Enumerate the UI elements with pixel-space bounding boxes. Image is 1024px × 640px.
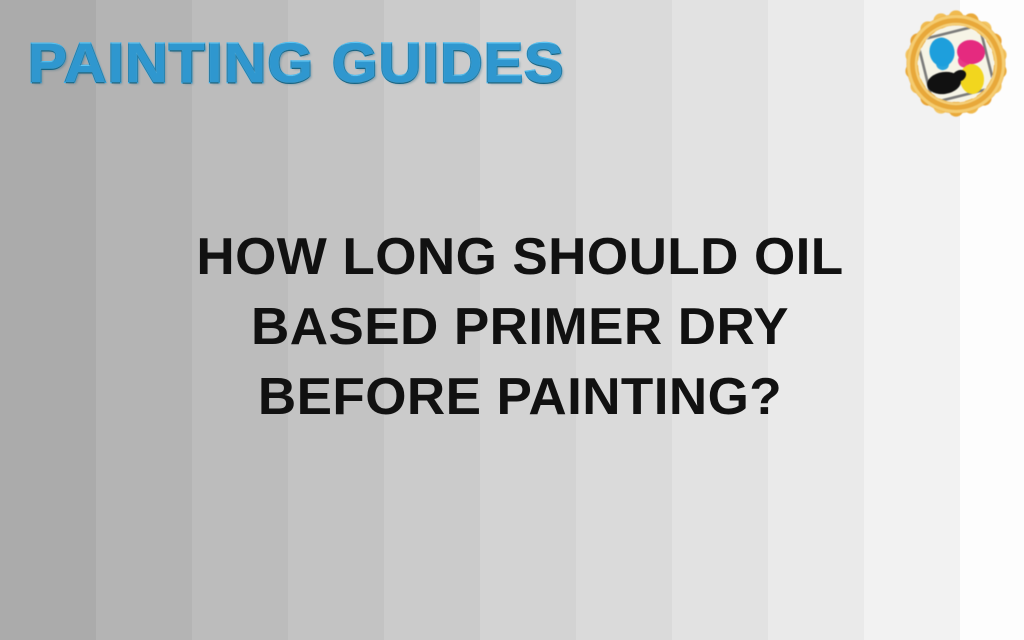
brand-title: PAINTING GUIDES (28, 28, 648, 98)
headline-line-2: BASED PRIMER DRY (122, 292, 918, 362)
page-title: HOW LONG SHOULD OIL BASED PRIMER DRY BEF… (130, 222, 910, 432)
headline-line-3: BEFORE PAINTING? (122, 362, 918, 432)
graphic-canvas: PAINTING GUIDES HOW LONG SHOULD OIL BASE… (0, 0, 1024, 640)
painting-guides-logo (904, 8, 1008, 120)
brand-title-text: PAINTING GUIDES (28, 35, 565, 91)
headline-line-1: HOW LONG SHOULD OIL (122, 222, 918, 292)
